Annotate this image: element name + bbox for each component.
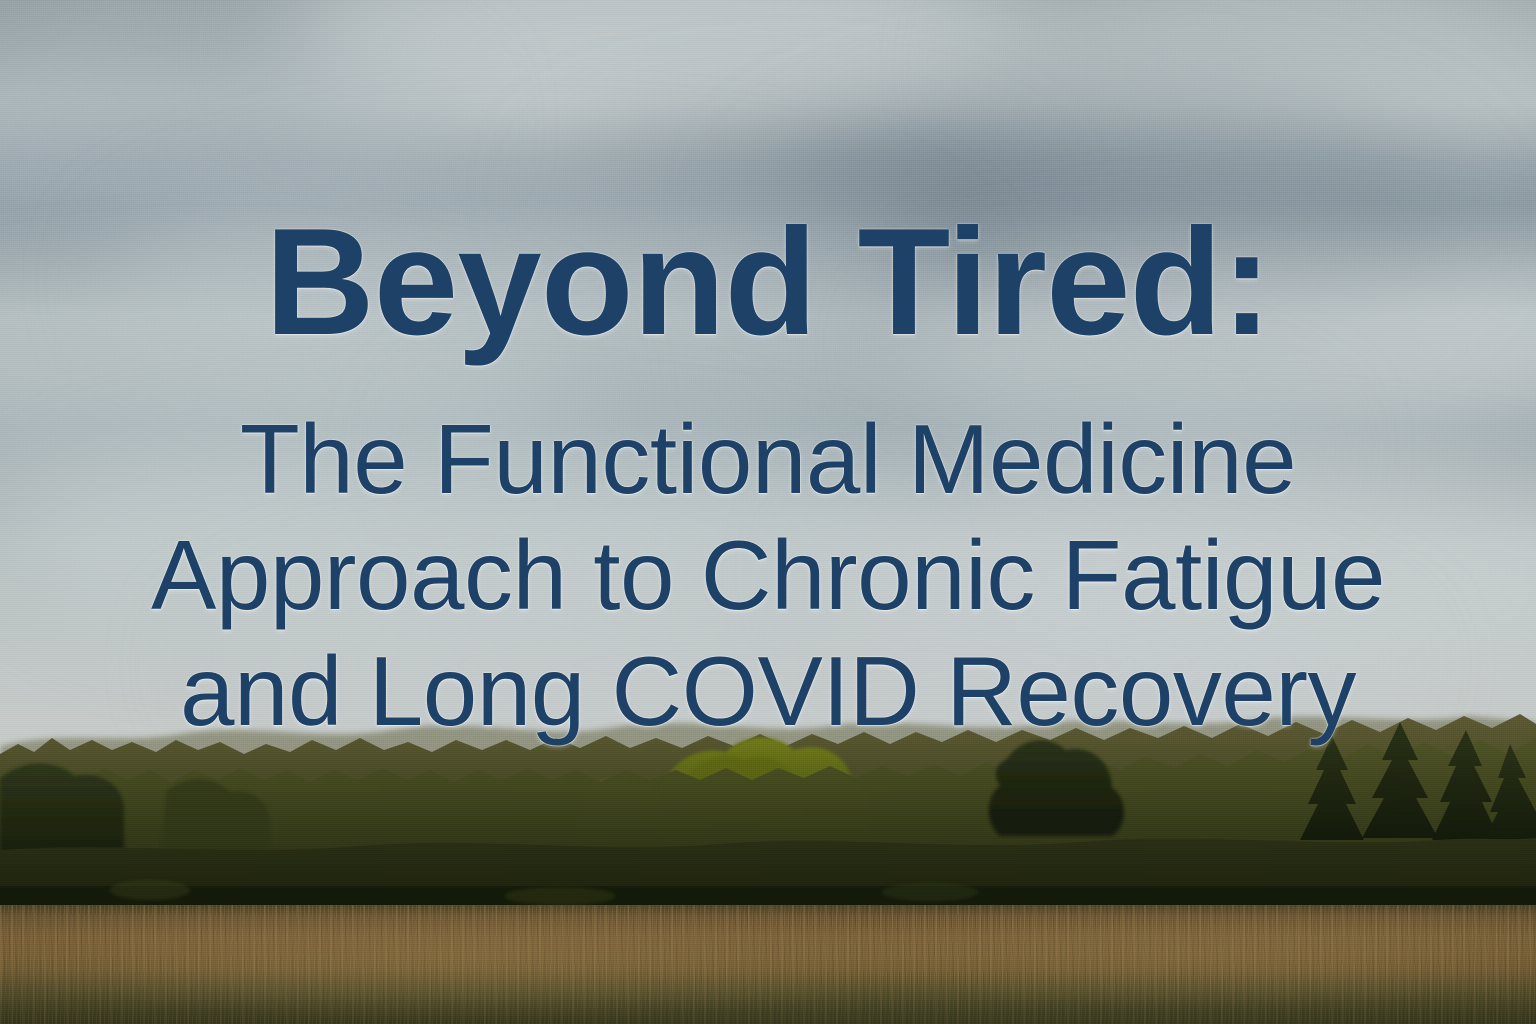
title-text-block: Beyond Tired: The Functional Medicine Ap… [0,0,1536,1024]
subtitle-line-2: Approach to Chronic Fatigue [0,526,1536,624]
subtitle-line-1: The Functional Medicine [0,410,1536,508]
subtitle-line-3: and Long COVID Recovery [0,642,1536,740]
header-graphic: Beyond Tired: The Functional Medicine Ap… [0,0,1536,1024]
headline-title: Beyond Tired: [0,206,1536,358]
